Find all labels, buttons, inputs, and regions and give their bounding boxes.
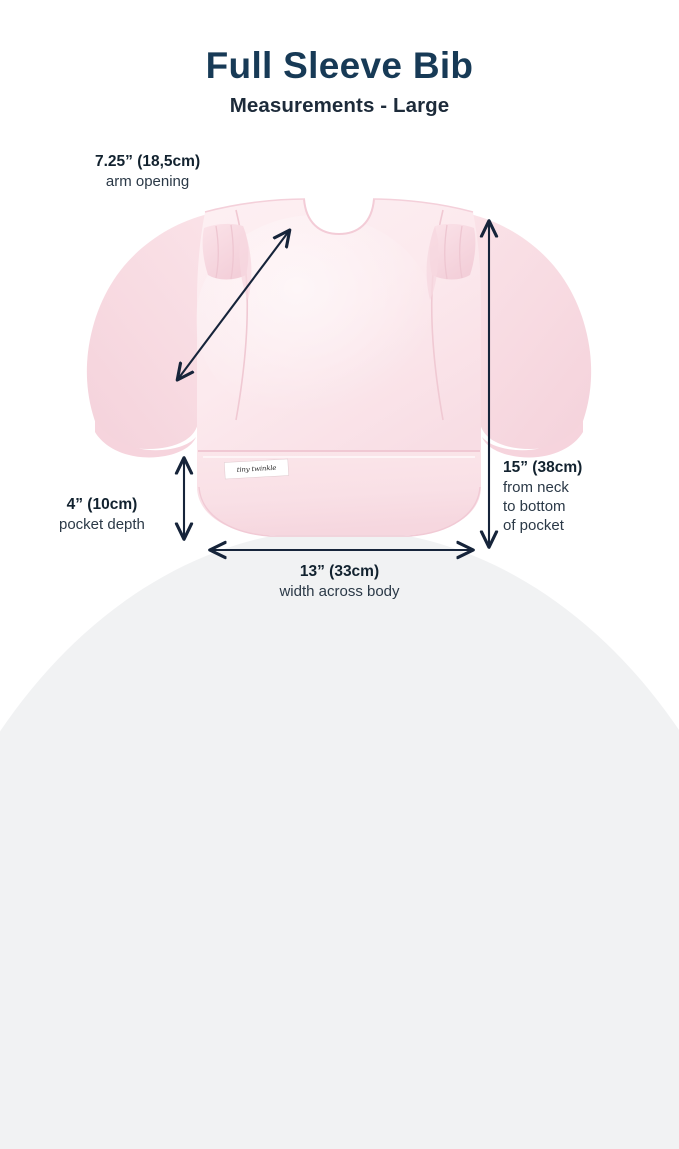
brand-tag-label: tiny twinkle xyxy=(237,464,277,474)
neck-to-pocket-line-3: of pocket xyxy=(503,516,582,535)
pocket-depth-value: 4” (10cm) xyxy=(59,495,145,515)
page-subtitle: Measurements - Large xyxy=(0,94,679,118)
width-across-body-description: width across body xyxy=(0,582,679,601)
label-arm-opening: 7.25” (18,5cm) arm opening xyxy=(95,152,200,191)
page-title: Full Sleeve Bib xyxy=(0,46,679,85)
arm-opening-description: arm opening xyxy=(95,172,200,191)
label-pocket-depth: 4” (10cm) pocket depth xyxy=(59,495,145,534)
neck-to-pocket-line-1: from neck xyxy=(503,478,582,497)
arm-opening-value: 7.25” (18,5cm) xyxy=(95,152,200,172)
label-neck-to-pocket: 15” (38cm) from neck to bottom of pocket xyxy=(503,458,582,535)
title-block: Full Sleeve Bib Measurements - Large xyxy=(0,46,679,118)
neck-to-pocket-line-2: to bottom xyxy=(503,497,582,516)
pocket-depth-description: pocket depth xyxy=(59,515,145,534)
neck-to-pocket-value: 15” (38cm) xyxy=(503,458,582,478)
width-across-body-value: 13” (33cm) xyxy=(0,562,679,582)
label-width-across-body: 13” (33cm) width across body xyxy=(0,562,679,601)
measurement-diagram: Full Sleeve Bib Measurements - Large xyxy=(0,0,679,679)
